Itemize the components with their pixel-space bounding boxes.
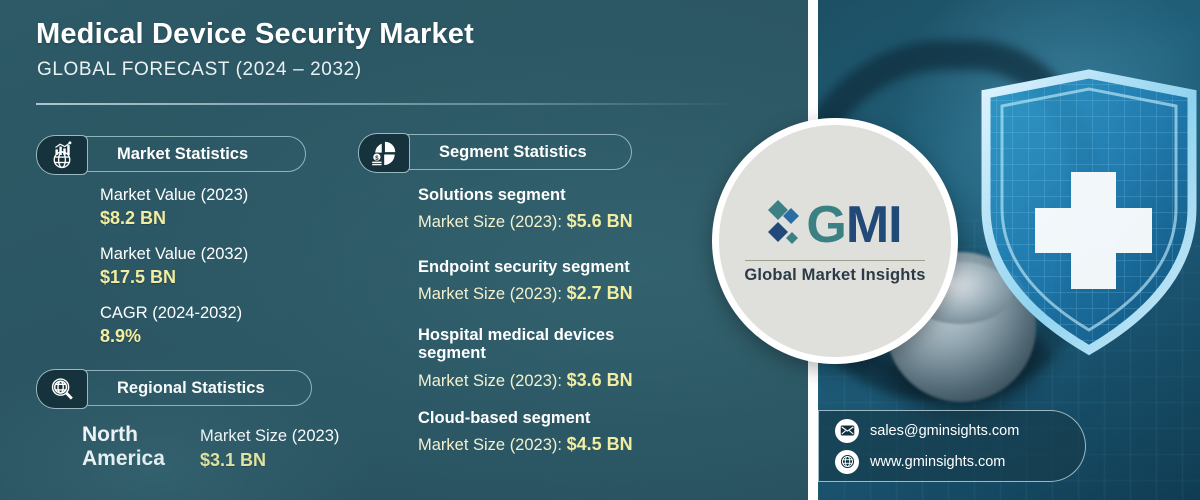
segment-size-label-3: Market Size (2023): (418, 436, 567, 454)
infographic-root: Medical Device Security Market GLOBAL FO… (0, 0, 1200, 500)
regional-statistics-label: Regional Statistics (117, 379, 265, 398)
header-divider (36, 103, 736, 105)
segment-size-label-2: Market Size (2023): (418, 372, 567, 390)
segment-size-value-3: $4.5 BN (567, 434, 633, 454)
region-stat-label: Market Size (2023) (200, 427, 339, 446)
page-subtitle: GLOBAL FORECAST (2024 – 2032) (37, 59, 362, 81)
contact-website-row[interactable]: www.gminsights.com (835, 450, 1085, 474)
segment-size-value-2: $3.6 BN (567, 370, 633, 390)
segment-size-label-0: Market Size (2023): (418, 213, 567, 231)
gmi-logo-badge: GMI Global Market Insights (712, 118, 958, 364)
envelope-icon (835, 419, 859, 443)
globe-magnifier-icon (36, 369, 88, 409)
left-content-panel: Medical Device Security Market GLOBAL FO… (0, 0, 808, 500)
gmi-letter-g: GMI (806, 199, 901, 251)
contact-website[interactable]: www.gminsights.com (870, 454, 1005, 470)
gmi-logo-tagline: Global Market Insights (744, 266, 925, 285)
stat-value-0: $8.2 BN (100, 208, 166, 229)
segment-size-value-0: $5.6 BN (567, 211, 633, 231)
gmi-logo-rule (745, 260, 925, 262)
stat-value-2: 8.9% (100, 326, 141, 347)
region-name: North America (82, 423, 202, 470)
globe-icon (835, 450, 859, 474)
gmi-logo-mark: GMI (768, 197, 901, 253)
segment-size-value-1: $2.7 BN (567, 283, 633, 303)
page-title: Medical Device Security Market (36, 18, 474, 51)
segment-line-3: Market Size (2023): $4.5 BN (418, 434, 633, 455)
stat-label-2: CAGR (2024-2032) (100, 304, 242, 323)
stat-value-1: $17.5 BN (100, 267, 176, 288)
pie-chart-money-icon: $ (358, 133, 410, 173)
segment-statistics-label: Segment Statistics (439, 143, 587, 162)
segment-size-label-1: Market Size (2023): (418, 285, 567, 303)
gmi-letters-mi: MI (846, 196, 902, 254)
segment-line-2: Market Size (2023): $3.6 BN (418, 370, 633, 391)
market-statistics-label: Market Statistics (117, 145, 248, 164)
bar-chart-globe-icon (36, 135, 88, 175)
contact-bar: sales@gminsights.com www.gminsights.com (818, 410, 1086, 482)
gmi-diamond-icon (768, 197, 802, 253)
segment-name-0: Solutions segment (418, 186, 566, 205)
segment-name-1: Endpoint security segment (418, 258, 630, 277)
segment-name-3: Cloud-based segment (418, 409, 590, 428)
segment-line-0: Market Size (2023): $5.6 BN (418, 211, 633, 232)
segment-name-2: Hospital medical devices segment (418, 326, 668, 363)
security-shield-icon (964, 68, 1200, 358)
contact-email-row[interactable]: sales@gminsights.com (835, 419, 1085, 443)
segment-line-1: Market Size (2023): $2.7 BN (418, 283, 633, 304)
stat-label-1: Market Value (2032) (100, 245, 248, 264)
region-stat-value: $3.1 BN (200, 450, 266, 471)
contact-email[interactable]: sales@gminsights.com (870, 423, 1019, 439)
stat-label-0: Market Value (2023) (100, 186, 248, 205)
